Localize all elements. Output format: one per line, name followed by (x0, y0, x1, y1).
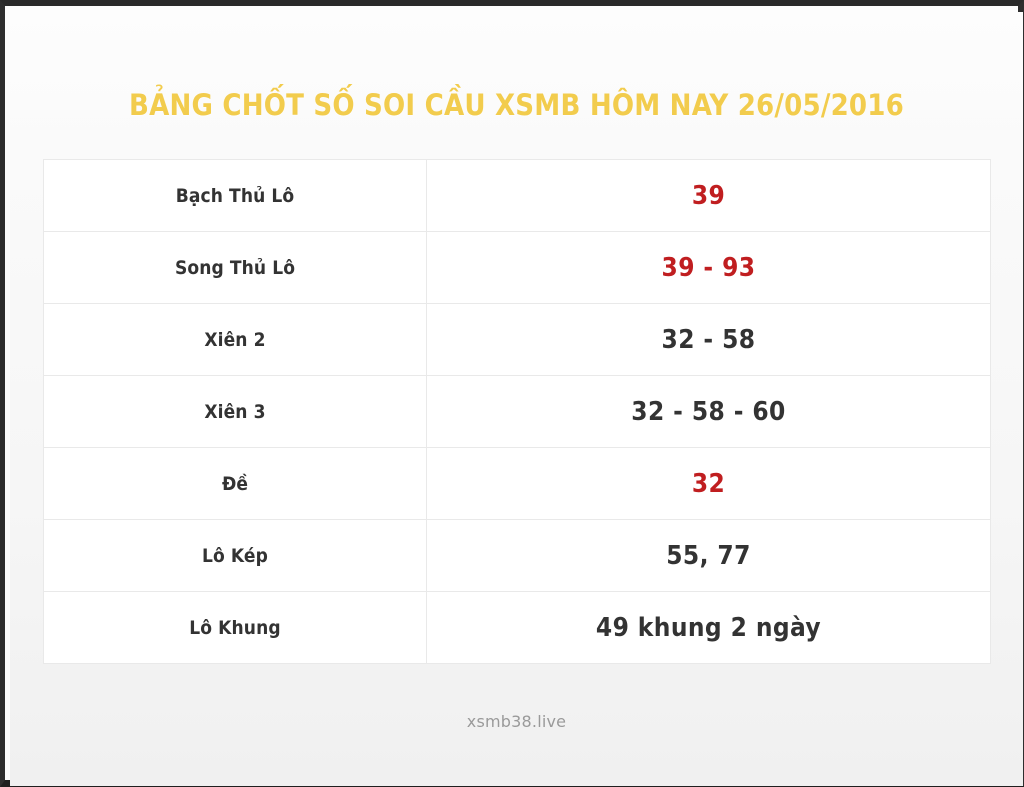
table-row: Xiên 332 - 58 - 60 (44, 376, 991, 448)
prediction-table: Bạch Thủ Lô39Song Thủ Lô39 - 93Xiên 232 … (43, 159, 991, 664)
row-label-text: Đề (222, 473, 248, 495)
row-value-cell: 49 khung 2 ngày (427, 592, 991, 664)
row-label-cell: Đề (44, 448, 427, 520)
row-label-cell: Song Thủ Lô (44, 232, 427, 304)
row-label-text: Lô Kép (202, 545, 268, 567)
row-label-text: Xiên 2 (204, 329, 265, 351)
row-value-text: 32 - 58 - 60 (631, 397, 785, 427)
row-value-text: 55, 77 (666, 541, 751, 571)
row-value-cell: 32 (427, 448, 991, 520)
page-title: BẢNG CHỐT SỐ SOI CẦU XSMB HÔM NAY 26/05/… (10, 88, 1023, 122)
row-value-text: 32 - 58 (662, 325, 756, 355)
row-label-text: Lô Khung (189, 617, 280, 639)
row-value-cell: 55, 77 (427, 520, 991, 592)
footer: xsmb38.live (10, 712, 1023, 732)
row-label-cell: Lô Khung (44, 592, 427, 664)
row-label-cell: Xiên 3 (44, 376, 427, 448)
table-row: Lô Kép55, 77 (44, 520, 991, 592)
row-label-text: Bạch Thủ Lô (176, 185, 295, 207)
row-value-cell: 32 - 58 - 60 (427, 376, 991, 448)
table-row: Đề32 (44, 448, 991, 520)
row-value-cell: 32 - 58 (427, 304, 991, 376)
row-label-text: Song Thủ Lô (175, 257, 295, 279)
row-label-text: Xiên 3 (204, 401, 265, 423)
prediction-table-container: Bạch Thủ Lô39Song Thủ Lô39 - 93Xiên 232 … (43, 159, 990, 664)
table-row: Lô Khung49 khung 2 ngày (44, 592, 991, 664)
row-value-text: 32 (692, 469, 725, 499)
page-canvas: BẢNG CHỐT SỐ SOI CẦU XSMB HÔM NAY 26/05/… (10, 12, 1023, 786)
outer-frame: BẢNG CHỐT SỐ SOI CẦU XSMB HÔM NAY 26/05/… (0, 0, 1024, 787)
row-value-text: 39 (692, 181, 725, 211)
table-row: Xiên 232 - 58 (44, 304, 991, 376)
prediction-table-body: Bạch Thủ Lô39Song Thủ Lô39 - 93Xiên 232 … (44, 160, 991, 664)
footer-site-label: xsmb38.live (467, 712, 566, 731)
row-value-cell: 39 (427, 160, 991, 232)
table-row: Bạch Thủ Lô39 (44, 160, 991, 232)
row-label-cell: Xiên 2 (44, 304, 427, 376)
row-value-cell: 39 - 93 (427, 232, 991, 304)
row-label-cell: Bạch Thủ Lô (44, 160, 427, 232)
table-row: Song Thủ Lô39 - 93 (44, 232, 991, 304)
row-label-cell: Lô Kép (44, 520, 427, 592)
row-value-text: 39 - 93 (662, 253, 756, 283)
row-value-text: 49 khung 2 ngày (596, 613, 821, 643)
